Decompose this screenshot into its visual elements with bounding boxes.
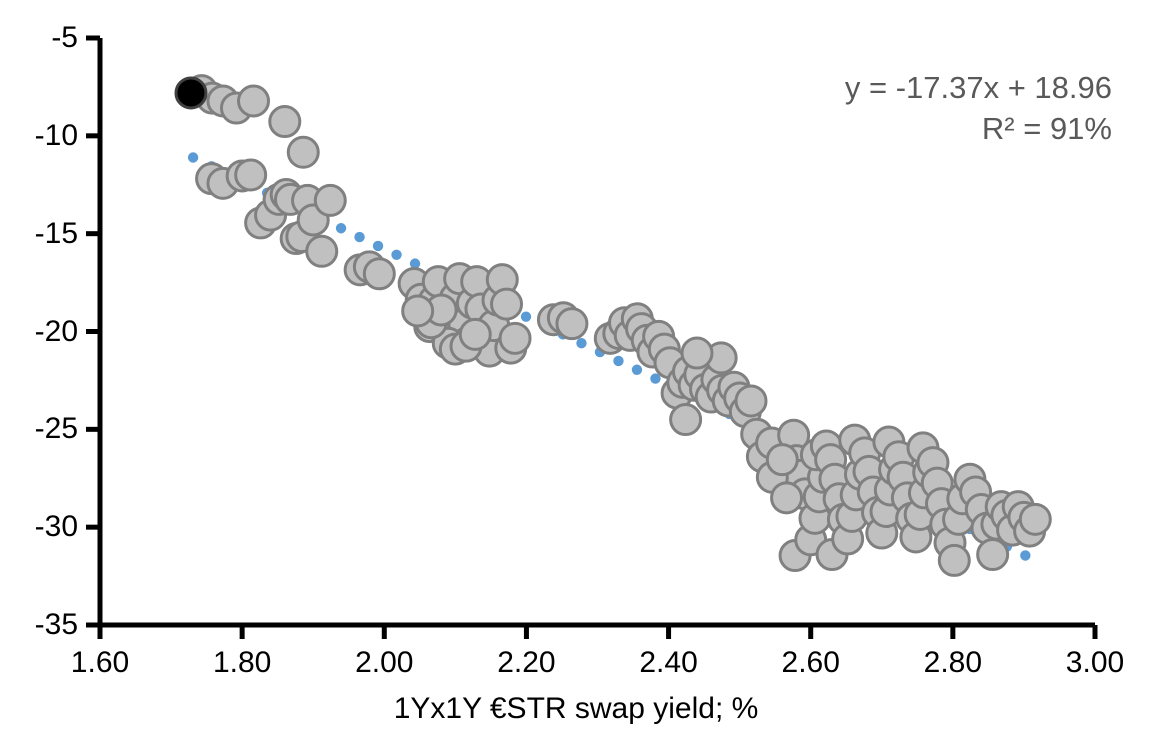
y-tick-label: -5 [51,23,78,53]
y-tick-label: -10 [35,121,78,151]
scatter-chart: -5-10-15-20-25-30-35 1.601.802.002.202.4… [0,0,1152,745]
x-tick-label: 2.40 [639,648,697,678]
x-tick-label: 2.20 [497,648,555,678]
x-tick-label: 1.80 [213,648,271,678]
y-tick-label: -20 [35,317,78,347]
y-tick-label: -35 [35,610,78,640]
data-points [187,76,1051,576]
x-tick-label: 3.00 [1066,648,1124,678]
highlight-point [176,78,206,108]
regression-equation: y = -17.37x + 18.96 [845,68,1112,109]
y-tick-label: -25 [35,414,78,444]
x-tick-label: 2.60 [782,648,840,678]
y-tick-label: -15 [35,219,78,249]
x-tick-label: 2.00 [355,648,413,678]
x-axis-title: 1Yx1Y €STR swap yield; % [0,694,1152,724]
x-tick-label: 1.60 [71,648,129,678]
x-tick-label: 2.80 [924,648,982,678]
regression-annotation: y = -17.37x + 18.96 R² = 91% [845,68,1112,150]
r-squared-value: R² = 91% [845,109,1112,150]
y-tick-label: -30 [35,512,78,542]
